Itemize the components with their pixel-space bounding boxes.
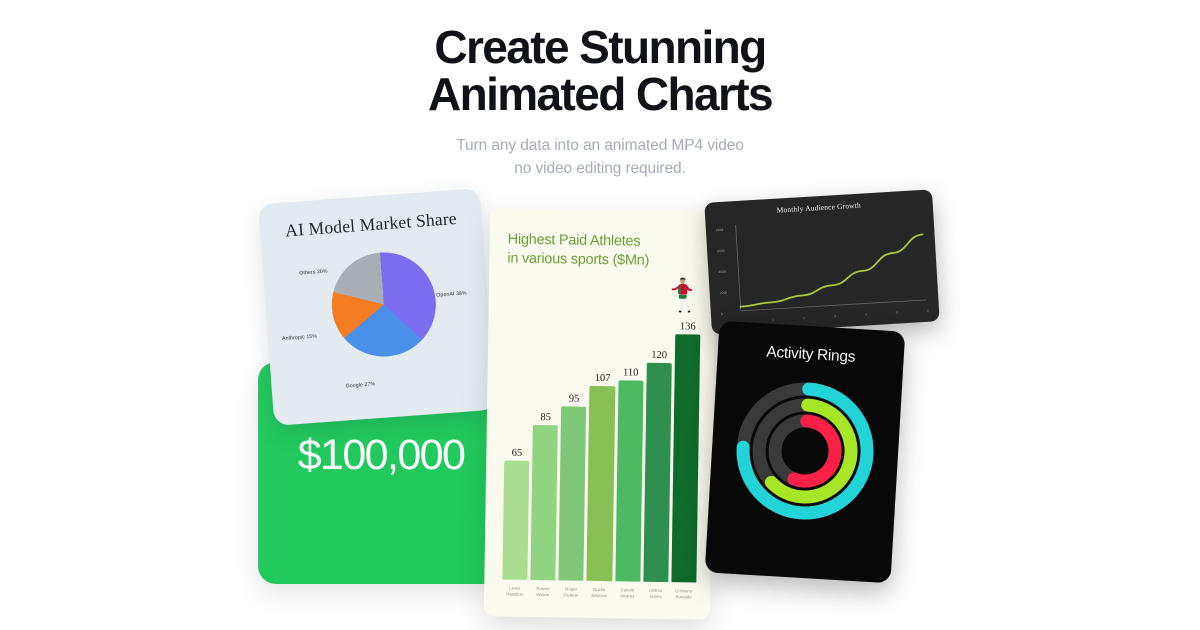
bar-value-label: 85 <box>540 412 551 423</box>
line-yaxis-label: 400k <box>718 270 726 274</box>
bar-xaxis-label: LewisHamilton <box>502 586 527 599</box>
bar-xaxis-label: DustinJohnson <box>587 587 612 600</box>
line-chart-svg <box>713 208 931 324</box>
pie-label-anthropic: Anthropic 15% <box>282 333 317 342</box>
bar-rect <box>615 380 643 581</box>
hero-header: Create Stunning Animated Charts Turn any… <box>0 24 1200 181</box>
bar-title-line-2: in various sports ($Mn) <box>507 249 701 271</box>
bar-xaxis-label: CaneloAlvarez <box>615 587 640 600</box>
bar-chart-plot: 658595107110120136 <box>502 282 701 583</box>
bar-title-line-1: Highest Paid Athletes <box>508 232 641 250</box>
bar-xaxis-label: RusselWilson <box>530 586 555 599</box>
hero-canvas: Create Stunning Animated Charts Turn any… <box>0 0 1200 630</box>
line-yaxis-label: 600k <box>717 249 725 253</box>
subtitle-line-1: Turn any data into an animated MP4 video <box>456 137 744 154</box>
activity-rings-title: Activity Rings <box>717 341 904 370</box>
soccer-player-icon <box>669 276 696 316</box>
money-amount: $100,000 <box>298 431 465 480</box>
line-yaxis-label: 800k <box>716 228 724 232</box>
pie-slices <box>328 249 439 360</box>
bar-xaxis-label: LeBronJames <box>643 588 668 601</box>
bar-xaxis-label: RogerFederer <box>558 586 583 599</box>
bar-chart-xaxis: LewisHamiltonRusselWilsonRogerFedererDus… <box>502 586 696 601</box>
bar-column: 65 <box>502 282 532 580</box>
pie-label-google: Google 27% <box>346 381 376 389</box>
bar-rect <box>531 425 559 581</box>
bar-value-label: 110 <box>623 367 639 378</box>
bar-value-label: 65 <box>512 448 523 459</box>
line-chart-plot: 800k600k400k200k0123456 <box>713 208 931 324</box>
bar-value-label: 107 <box>595 372 611 383</box>
line-yaxis-label: 0 <box>721 312 723 316</box>
headline-line-1: Create Stunning <box>434 21 765 73</box>
line-xaxis-label: 5 <box>896 311 898 315</box>
bar-rect <box>559 407 587 581</box>
line-chart-card[interactable]: Monthly Audience Growth 800k600k400k200k… <box>704 189 939 334</box>
bar-column: 110 <box>615 283 645 581</box>
bar-column: 107 <box>587 283 617 581</box>
activity-rings-plot <box>708 371 903 532</box>
pie-label-openai: OpenAI 38% <box>436 290 467 298</box>
pie-chart-card[interactable]: AI Model Market Share OpenAI 38% Google … <box>258 188 496 426</box>
bar-rect <box>502 461 529 580</box>
activity-rings-card[interactable]: Activity Rings <box>705 321 906 584</box>
headline-line-2: Animated Charts <box>0 71 1200 118</box>
page-title: Create Stunning Animated Charts <box>0 24 1200 118</box>
bar-column: 85 <box>531 282 561 580</box>
bar-column: 136 <box>671 284 701 582</box>
page-subtitle: Turn any data into an animated MP4 video… <box>0 134 1200 181</box>
bar-value-label: 136 <box>680 321 696 332</box>
bar-rect <box>643 363 672 583</box>
line-yaxis-label: 200k <box>720 291 728 295</box>
bar-chart-title: Highest Paid Athletes in various sports … <box>507 231 702 271</box>
line-xaxis-label: 3 <box>834 314 836 318</box>
line-xaxis-label: 2 <box>803 316 805 320</box>
subtitle-line-2: no video editing required. <box>0 157 1200 181</box>
pie-chart-plot: OpenAI 38% Google 27% Anthropic 15% Othe… <box>261 227 495 419</box>
bar-chart-card[interactable]: Highest Paid Athletes in various sports … <box>484 208 716 619</box>
bar-xaxis-label: CristianoRonaldo <box>671 588 696 601</box>
bar-rect <box>587 385 615 581</box>
bar-rect <box>671 334 700 583</box>
bar-value-label: 95 <box>569 394 580 405</box>
bar-column: 95 <box>559 283 589 581</box>
bar-value-label: 120 <box>651 350 667 361</box>
line-xaxis-label: 6 <box>927 309 929 313</box>
activity-rings-svg <box>726 372 885 531</box>
line-xaxis-label: 1 <box>772 318 774 322</box>
line-xaxis-label: 4 <box>865 312 867 316</box>
bar-column: 120 <box>643 284 673 582</box>
pie-label-others: Others 20% <box>299 269 328 277</box>
